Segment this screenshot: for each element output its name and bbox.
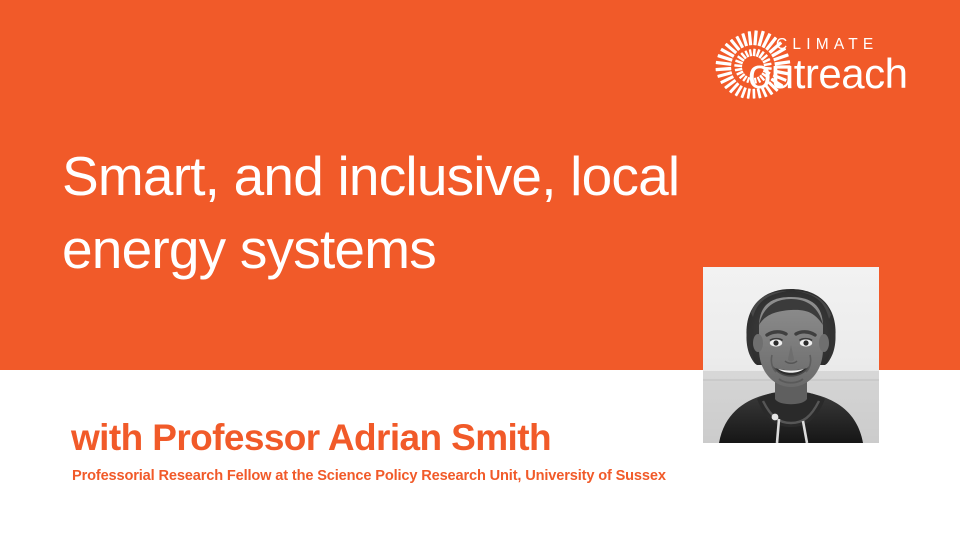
presentation-slide: CLIMATE outreach Smart, and inclusive, l… <box>0 0 960 540</box>
speaker-role: Professorial Research Fellow at the Scie… <box>72 468 666 486</box>
slide-title: Smart, and inclusive, local energy syste… <box>62 140 702 286</box>
slide-title-line-1: Smart, and inclusive, local <box>62 140 702 213</box>
speaker-portrait-photo <box>703 267 879 443</box>
climate-outreach-logo: CLIMATE outreach <box>714 26 916 108</box>
speaker-name: with Professor Adrian Smith <box>71 418 551 459</box>
slide-title-line-2: energy systems <box>62 213 702 286</box>
logo-wordmark-outreach: outreach <box>748 53 907 95</box>
